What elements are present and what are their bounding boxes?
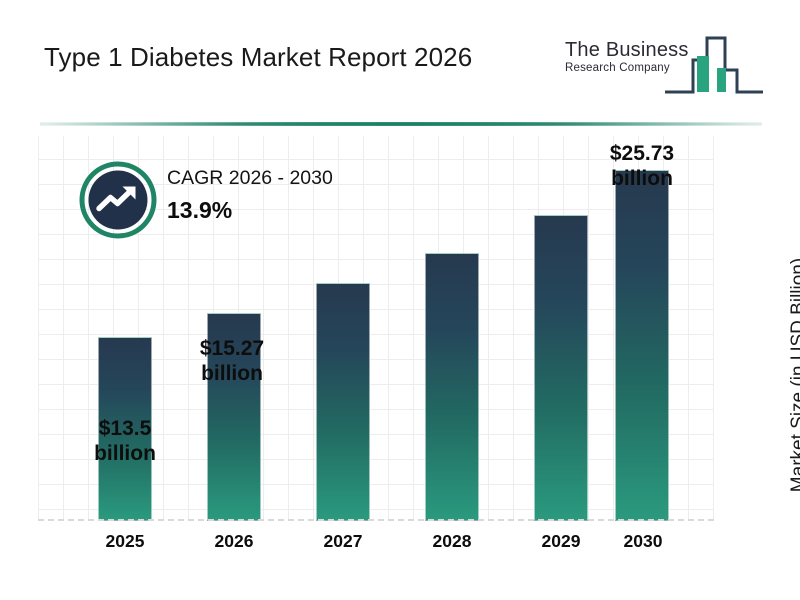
brand-logo-line1: The Business xyxy=(565,40,683,61)
bar-2028[interactable] xyxy=(425,253,479,521)
header-divider xyxy=(40,122,762,126)
cagr-text-block: CAGR 2026 - 2030 13.9% xyxy=(167,167,382,224)
cagr-value-label: 13.9% xyxy=(167,197,382,224)
brand-logo: The Business Research Company xyxy=(565,32,765,100)
cagr-trending-up-icon xyxy=(79,161,157,239)
bar-2030[interactable] xyxy=(615,170,669,521)
brand-logo-text: The Business Research Company xyxy=(565,40,683,75)
bar-2029[interactable] xyxy=(534,215,588,521)
page-title: Type 1 Diabetes Market Report 2026 xyxy=(44,42,472,73)
value-label-2026: $15.27 billion xyxy=(172,337,292,387)
value-label-2025: $13.5 billion xyxy=(65,417,185,467)
brand-logo-line2: Research Company xyxy=(565,62,683,75)
value-label-2030: $25.73 billion xyxy=(582,142,702,192)
x-tick-2029: 2029 xyxy=(521,531,601,552)
value-label-2025-amount: $13.5 xyxy=(65,417,185,442)
value-label-2026-amount: $15.27 xyxy=(172,337,292,362)
cagr-period-label: CAGR 2026 - 2030 xyxy=(167,167,382,190)
x-tick-2027: 2027 xyxy=(303,531,383,552)
y-axis-title: Market Size (in USD Billion) xyxy=(788,225,800,525)
value-label-2025-unit: billion xyxy=(65,442,185,467)
value-label-2026-unit: billion xyxy=(172,362,292,387)
bar-2027[interactable] xyxy=(316,283,370,521)
x-tick-2030: 2030 xyxy=(603,531,683,552)
x-tick-2025: 2025 xyxy=(85,531,165,552)
cagr-badge: CAGR 2026 - 2030 13.9% xyxy=(79,161,379,241)
x-tick-2026: 2026 xyxy=(194,531,274,552)
value-label-2030-amount: $25.73 xyxy=(582,142,702,167)
value-label-2030-unit: billion xyxy=(582,167,702,192)
chart-baseline xyxy=(38,519,714,521)
x-tick-2028: 2028 xyxy=(412,531,492,552)
